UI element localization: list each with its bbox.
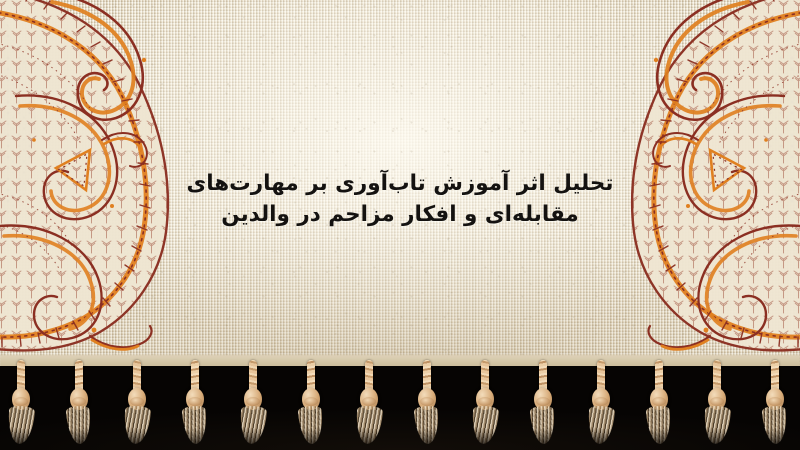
tassel-skirt (471, 405, 500, 445)
tassel (644, 360, 674, 446)
tassel (760, 360, 790, 446)
tassel-skirt (239, 405, 268, 445)
tassel-skirt (761, 405, 788, 445)
tassel-skirt (703, 405, 732, 445)
tassel (354, 360, 384, 446)
tassel (528, 360, 558, 446)
tassel-skirt (413, 405, 440, 445)
tassel (296, 360, 326, 446)
tassel-skirt (529, 405, 556, 445)
tassel (180, 360, 210, 446)
tassel-skirt (65, 405, 92, 445)
tassel (586, 360, 616, 446)
tassel-skirt (645, 405, 672, 445)
tassel (702, 360, 732, 446)
tassel-skirt (587, 405, 616, 445)
title-line-2: مقابله‌ای و افکار مزاحم در والدین (0, 199, 800, 230)
tassel-skirt (355, 405, 384, 445)
tassel-fringe (0, 360, 800, 450)
tassel (470, 360, 500, 446)
tassel (412, 360, 442, 446)
tassel-skirt (297, 405, 324, 445)
tassel (122, 360, 152, 446)
title-slide: تحلیل اثر آموزش تاب‌آوری بر مهارت‌های مق… (0, 0, 800, 450)
tassel (6, 360, 36, 446)
tassel-skirt (123, 405, 152, 445)
title-line-1: تحلیل اثر آموزش تاب‌آوری بر مهارت‌های (0, 168, 800, 199)
tassel-skirt (181, 405, 208, 445)
tassel-skirt (7, 405, 36, 445)
tassel (64, 360, 94, 446)
page-title: تحلیل اثر آموزش تاب‌آوری بر مهارت‌های مق… (0, 168, 800, 230)
tassel (238, 360, 268, 446)
